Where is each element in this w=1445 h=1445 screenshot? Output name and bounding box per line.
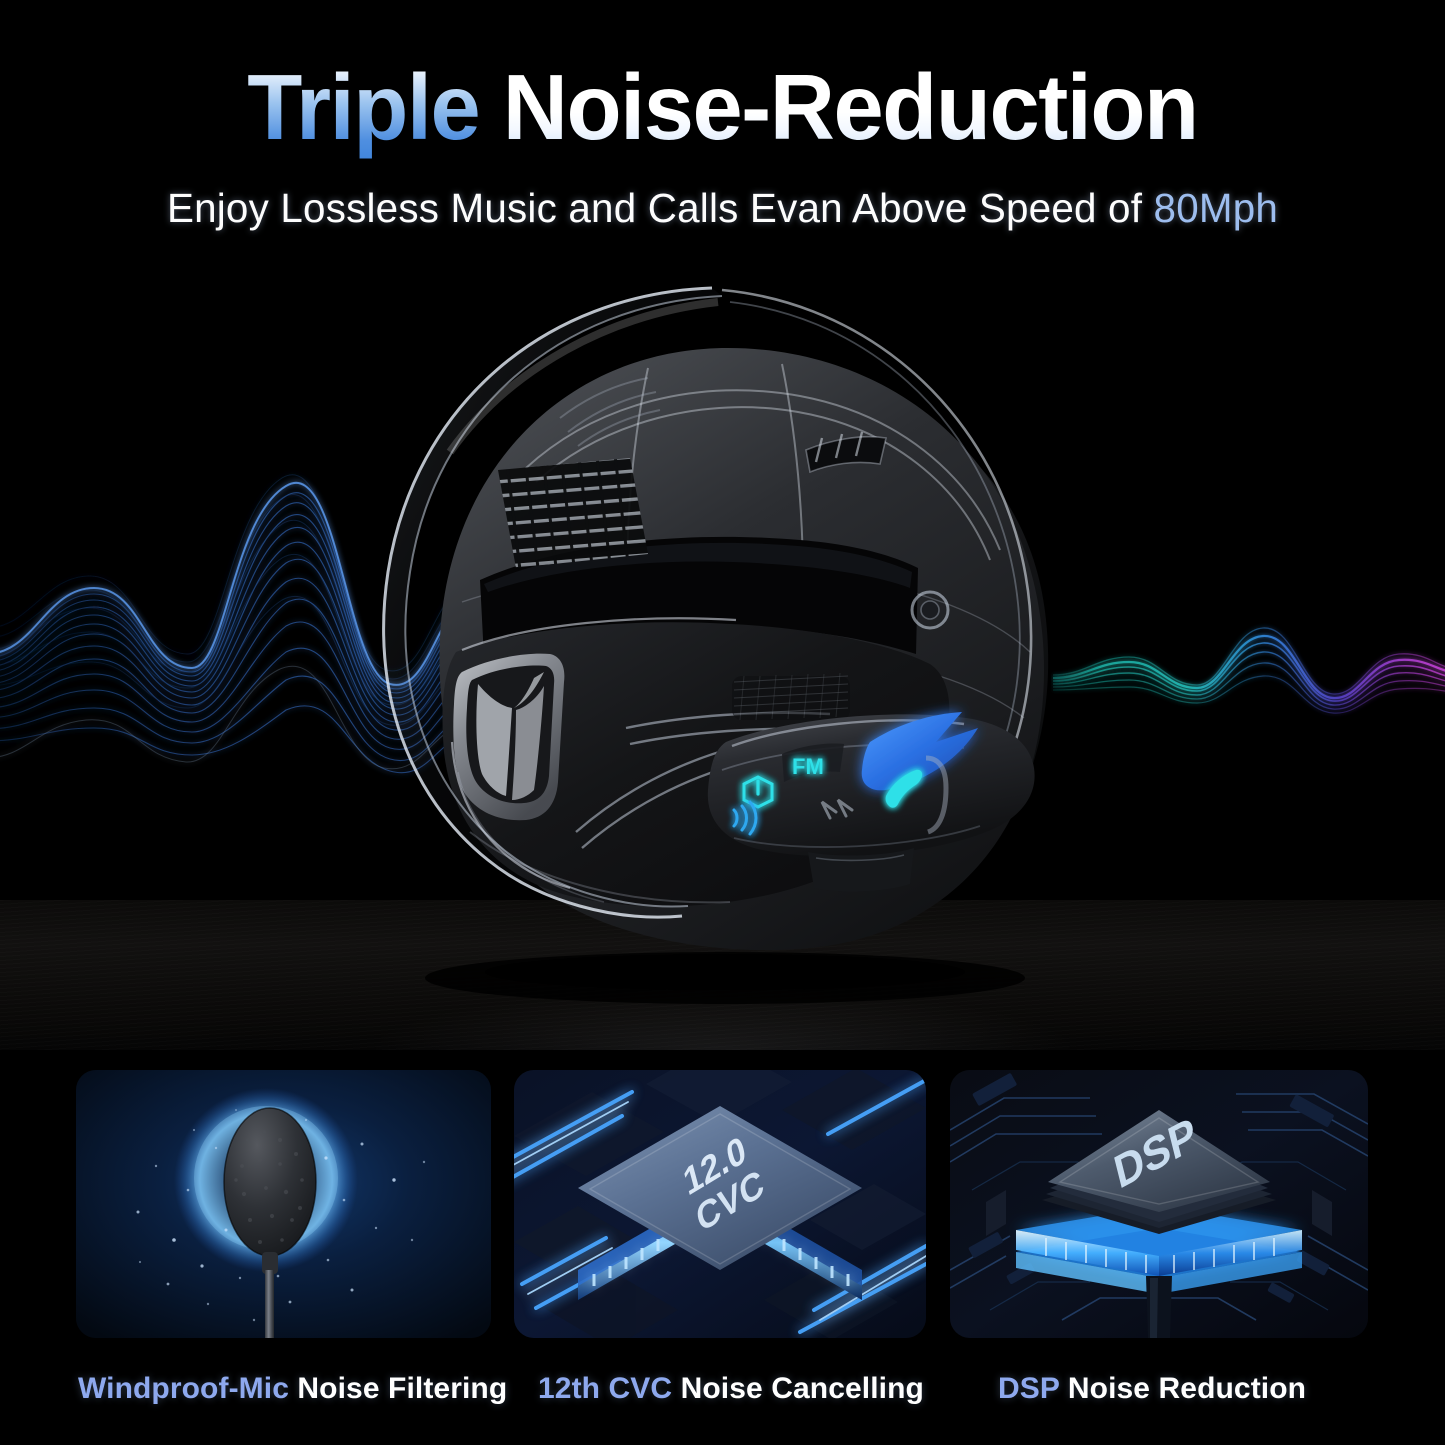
hero-section: FM (0, 262, 1445, 1050)
caption-2-rest: Noise Cancelling (672, 1372, 924, 1405)
headline-part-triple: Triple (247, 55, 479, 159)
caption-1-rest: Noise Filtering (289, 1372, 507, 1405)
feature-card-dsp-chip[interactable]: DSP (950, 1070, 1368, 1338)
caption-2-highlight: 12th CVC (538, 1372, 672, 1405)
feature-card-windproof-mic[interactable] (76, 1070, 491, 1338)
caption-1-highlight: Windproof-Mic (78, 1372, 289, 1405)
feature-card-cvc-chip[interactable]: 12.0 CVC (514, 1070, 926, 1338)
caption-dsp: DSP Noise Reduction (998, 1372, 1306, 1406)
features-section: 12.0 CVC (0, 1050, 1445, 1445)
caption-windproof-mic: Windproof-Mic Noise Filtering (78, 1372, 507, 1406)
subtitle: Enjoy Lossless Music and Calls Evan Abov… (11, 185, 1434, 232)
feature-captions: Windproof-Mic Noise Filtering 12th CVC N… (0, 1372, 1445, 1432)
product-feature-graphic: Triple Noise-Reduction Enjoy Lossless Mu… (0, 0, 1445, 1445)
page-title: Triple Noise-Reduction (22, 58, 1424, 157)
motorcycle-helmet: FM (330, 272, 1130, 1012)
subtitle-speed-accent: 80Mph (1154, 185, 1278, 231)
caption-3-highlight: DSP (998, 1372, 1059, 1405)
subtitle-text: Enjoy Lossless Music and Calls Evan Abov… (167, 185, 1154, 231)
header: Triple Noise-Reduction Enjoy Lossless Mu… (0, 0, 1445, 262)
caption-cvc: 12th CVC Noise Cancelling (538, 1372, 924, 1406)
headline-part-noise-reduction: Noise-Reduction (479, 55, 1197, 159)
svg-text:FM: FM (792, 754, 824, 779)
feature-cards: 12.0 CVC (0, 1070, 1445, 1338)
caption-3-rest: Noise Reduction (1059, 1372, 1306, 1405)
